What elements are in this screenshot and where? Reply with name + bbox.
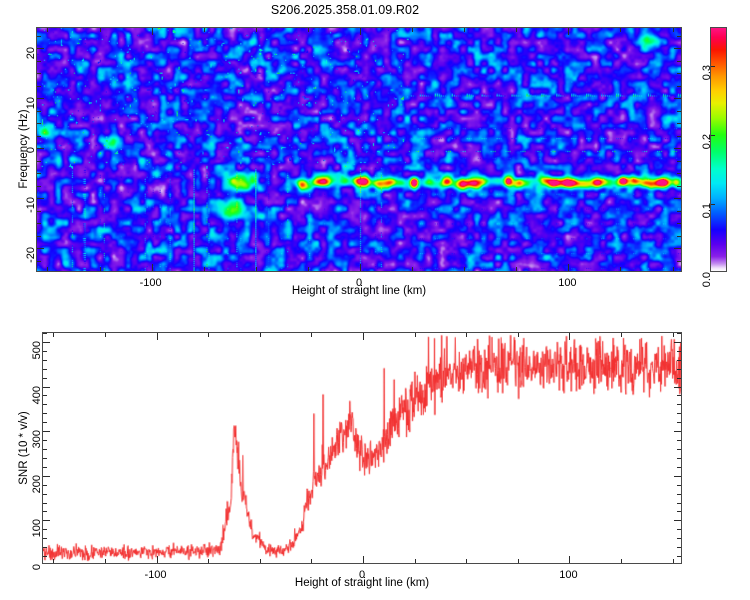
snr-y-tick-label: 0 (31, 564, 43, 570)
snr-line-plot (43, 333, 681, 563)
snr-y-tick-label: 200 (31, 475, 43, 493)
spectrogram-image (37, 28, 681, 271)
figure-root: S206.2025.358.01.09.R02 -1000100-20-1001… (0, 0, 750, 600)
snr-x-axis-title: Height of straight line (km) (295, 577, 429, 589)
snr-x-tick-label: -100 (145, 569, 167, 581)
colorbar-gradient (711, 28, 726, 271)
snr-y-tick-label: 100 (31, 519, 43, 537)
snr-y-tick-label: 500 (31, 341, 43, 359)
snr-x-tick-label: 100 (559, 569, 577, 581)
colorbar-tick-label: 0.1 (701, 203, 713, 218)
figure-title: S206.2025.358.01.09.R02 (0, 3, 690, 17)
snr-panel (42, 332, 682, 564)
spectrogram-x-tick-label: -100 (140, 277, 162, 289)
snr-y-tick-label: 300 (31, 430, 43, 448)
colorbar-tick-label: 0.0 (701, 272, 713, 287)
colorbar (710, 27, 727, 272)
spectrogram-y-tick-label: -10 (25, 197, 37, 213)
snr-y-tick-label: 400 (31, 386, 43, 404)
colorbar-tick-label: 0.3 (701, 65, 713, 80)
spectrogram-y-tick-label: -20 (25, 247, 37, 263)
spectrogram-y-tick-label: 20 (25, 47, 37, 59)
snr-y-axis-title: SNR (10 * v/v) (18, 393, 30, 503)
spectrogram-y-axis-title: Frequency (Hz) (18, 99, 30, 199)
spectrogram-panel (36, 27, 682, 272)
colorbar-tick-label: 0.2 (701, 134, 713, 149)
spectrogram-x-axis-title: Height of straight line (km) (292, 285, 426, 297)
spectrogram-x-tick-label: 100 (558, 277, 576, 289)
